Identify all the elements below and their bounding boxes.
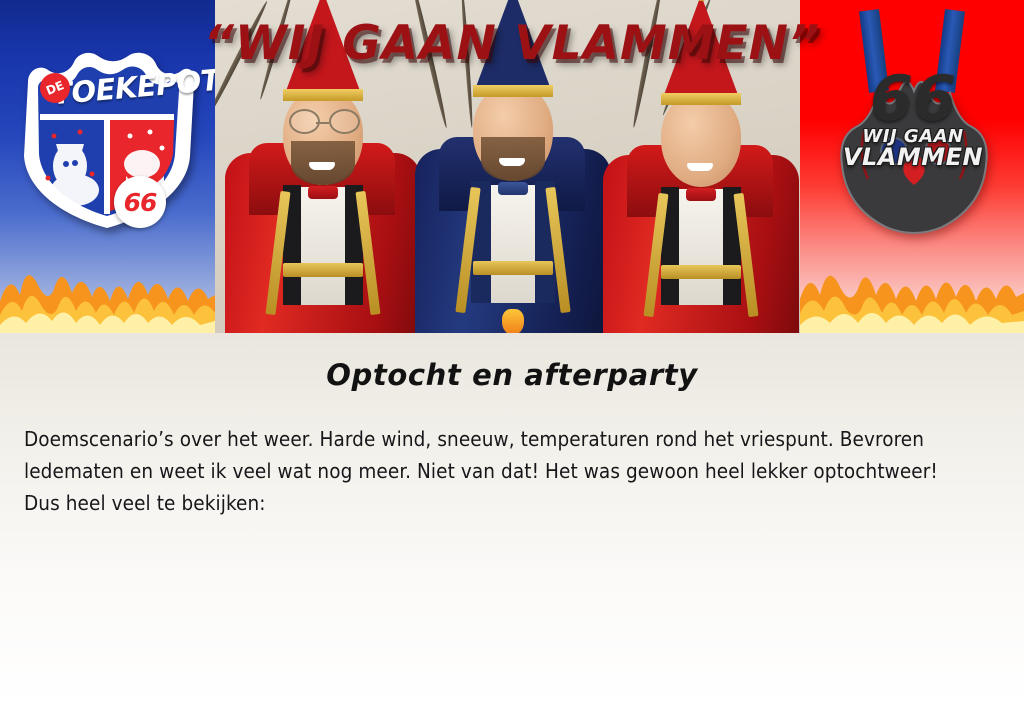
flame-medal-icon — [834, 65, 994, 240]
article-body-text: Doemscenario’s over het weer. Harde wind… — [0, 392, 1024, 519]
article-section: Optocht en afterparty Doemscenario’s ove… — [0, 333, 1024, 706]
article-heading: Optocht en afterparty — [0, 333, 1024, 392]
flames-right — [800, 255, 1024, 333]
flame-icon — [800, 255, 1024, 333]
shield-edition-number: 66 — [114, 176, 166, 228]
flames-left — [0, 255, 215, 333]
person-left — [221, 53, 421, 333]
banner-right-panel: 66 WIJ GAAN VLAMMEN — [800, 0, 1024, 333]
club-shield-logo: DE TOEKEPOT 66 — [18, 48, 196, 233]
person-right — [599, 53, 799, 333]
carnival-medal: 66 WIJ GAAN VLAMMEN — [828, 10, 998, 250]
person-center — [411, 48, 611, 333]
flame-icon — [0, 255, 215, 333]
header-photo — [215, 0, 800, 333]
banner-left-panel: DE TOEKEPOT 66 — [0, 0, 215, 333]
page-root: DE TOEKEPOT 66 — [0, 0, 1024, 706]
header-banner: DE TOEKEPOT 66 — [0, 0, 1024, 333]
